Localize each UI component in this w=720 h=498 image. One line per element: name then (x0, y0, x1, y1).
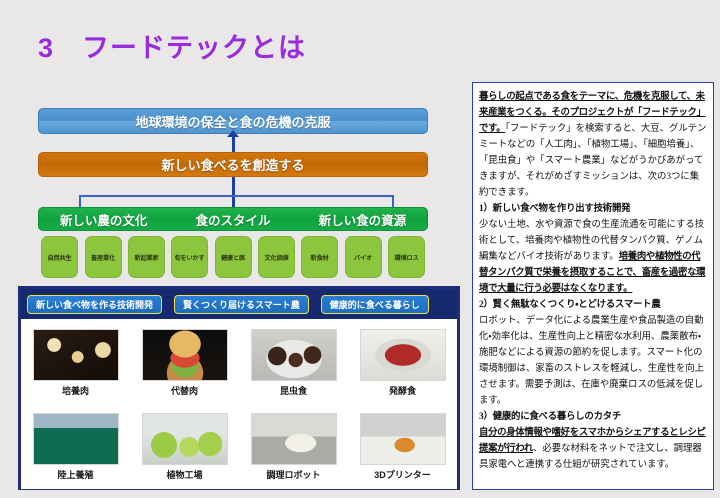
chip: 環境ロス (388, 236, 425, 278)
thumbnail-fermented-food (360, 329, 446, 381)
create-box: 新しい食べるを創造する (38, 152, 428, 177)
photo-cell: 代替肉 (130, 329, 239, 397)
section-3-paragraph: 自分の身体情報や嗜好をスマホからシェアするとレシピ提案が行われ、必要な材料をネッ… (479, 425, 707, 473)
thumbnail-insect-food (251, 329, 337, 381)
category-label-0: 新しい農の文化 (39, 210, 168, 229)
photo-label: 代替肉 (171, 384, 198, 397)
chip-group-1: 旬をいかす 健康と医 文化価値 (168, 236, 298, 278)
arrow-shaft-upper (232, 134, 235, 154)
pill-tech-development[interactable]: 新しい食べ物を作る技術開発 (27, 295, 162, 314)
chip: 自然共生 (41, 236, 78, 278)
strategy-diagram: 地球環境の保全と食の危機の克服 新しい食べるを創造する 新しい農の文化 食のスタ… (16, 100, 462, 290)
category-bar: 新しい農の文化 食のスタイル 新しい食の資源 (38, 207, 428, 231)
photo-label: 昆虫食 (280, 384, 307, 397)
photo-grid: 培養肉 代替肉 昆虫食 発酵食 陸上養殖 植物工場 (21, 321, 457, 489)
section-1-heading: 1）新しい食べ物を作り出す技術開発 (479, 201, 707, 217)
chip: 文化価値 (258, 236, 295, 278)
photo-row: 培養肉 代替肉 昆虫食 発酵食 (21, 321, 457, 405)
photo-label: 発酵食 (389, 384, 416, 397)
photo-cell: 植物工場 (130, 413, 239, 481)
pill-smart-agriculture[interactable]: 賢くつくり届けるスマート農 (174, 295, 309, 314)
section-3-heading: 3）健康的に食べる暮らしのカタチ (479, 409, 707, 425)
chip: 畜産業化 (85, 236, 122, 278)
photo-label: 植物工場 (166, 468, 202, 481)
photo-label: 培養肉 (62, 384, 89, 397)
foodtech-examples-panel: 新しい食べ物を作る技術開発 賢くつくり届けるスマート農 健康的に食べる暮らし 培… (18, 286, 460, 490)
chip-group-0: 自然共生 畜産業化 新起業家 (38, 236, 168, 278)
chip: 旬をいかす (171, 236, 208, 278)
photo-cell: 3Dプリンター (348, 413, 457, 481)
section-2-heading: 2）賢く無駄なくつくり・とどけるスマート農 (479, 297, 707, 313)
photo-cell: 培養肉 (21, 329, 130, 397)
thumbnail-3d-printer (360, 413, 446, 465)
thumbnail-plant-factory (142, 413, 228, 465)
photo-cell: 調理ロボット (239, 413, 348, 481)
chip-group-2: 新食材 バイオ 環境ロス (298, 236, 428, 278)
photo-label: 調理ロボット (266, 468, 320, 481)
chip: 健康と医 (215, 236, 252, 278)
chip: 新起業家 (128, 236, 165, 278)
thumbnail-cooking-robot (251, 413, 337, 465)
intro-paragraph: 暮らしの起点である食をテーマに、危機を克服して、未来産業をつくる。そのプロジェク… (479, 89, 707, 201)
category-label-1: 食のスタイル (168, 210, 297, 229)
section-2-body: ロボット、データ化による農業生産や食品製造の自動化・効率化は、生産性向上と精密な… (479, 313, 707, 409)
photo-label: 陸上養殖 (57, 468, 93, 481)
photo-cell: 昆虫食 (239, 329, 348, 397)
chip: バイオ (345, 236, 382, 278)
thumbnail-land-aquaculture (33, 413, 119, 465)
page-title: 3 フードテックとは (38, 26, 306, 65)
category-label-2: 新しい食の資源 (298, 210, 427, 229)
photo-cell: 発酵食 (348, 329, 457, 397)
thumbnail-cultured-meat (33, 329, 119, 381)
pill-healthy-living[interactable]: 健康的に食べる暮らし (321, 295, 429, 314)
description-panel: 暮らしの起点である食をテーマに、危機を克服して、未来産業をつくる。そのプロジェク… (472, 82, 714, 490)
thumbnail-alternative-meat (142, 329, 228, 381)
intro-rest: 「フードテック」を検索すると、大豆、グルテンミートなどの「人工肉」、「植物工場」… (479, 124, 706, 198)
chip-row: 自然共生 畜産業化 新起業家 旬をいかす 健康と医 文化価値 新食材 バイオ 環… (38, 236, 428, 278)
chip: 新食材 (301, 236, 338, 278)
photo-cell: 陸上養殖 (21, 413, 130, 481)
section-1-paragraph: 少ない土地、水や資源で食の生産流通を可能にする技術として、培養肉や植物性の代替タ… (479, 217, 707, 297)
panel-header: 新しい食べ物を作る技術開発 賢くつくり届けるスマート農 健康的に食べる暮らし (21, 289, 457, 319)
photo-row: 陸上養殖 植物工場 調理ロボット 3Dプリンター (21, 405, 457, 489)
photo-label: 3Dプリンター (374, 468, 431, 481)
